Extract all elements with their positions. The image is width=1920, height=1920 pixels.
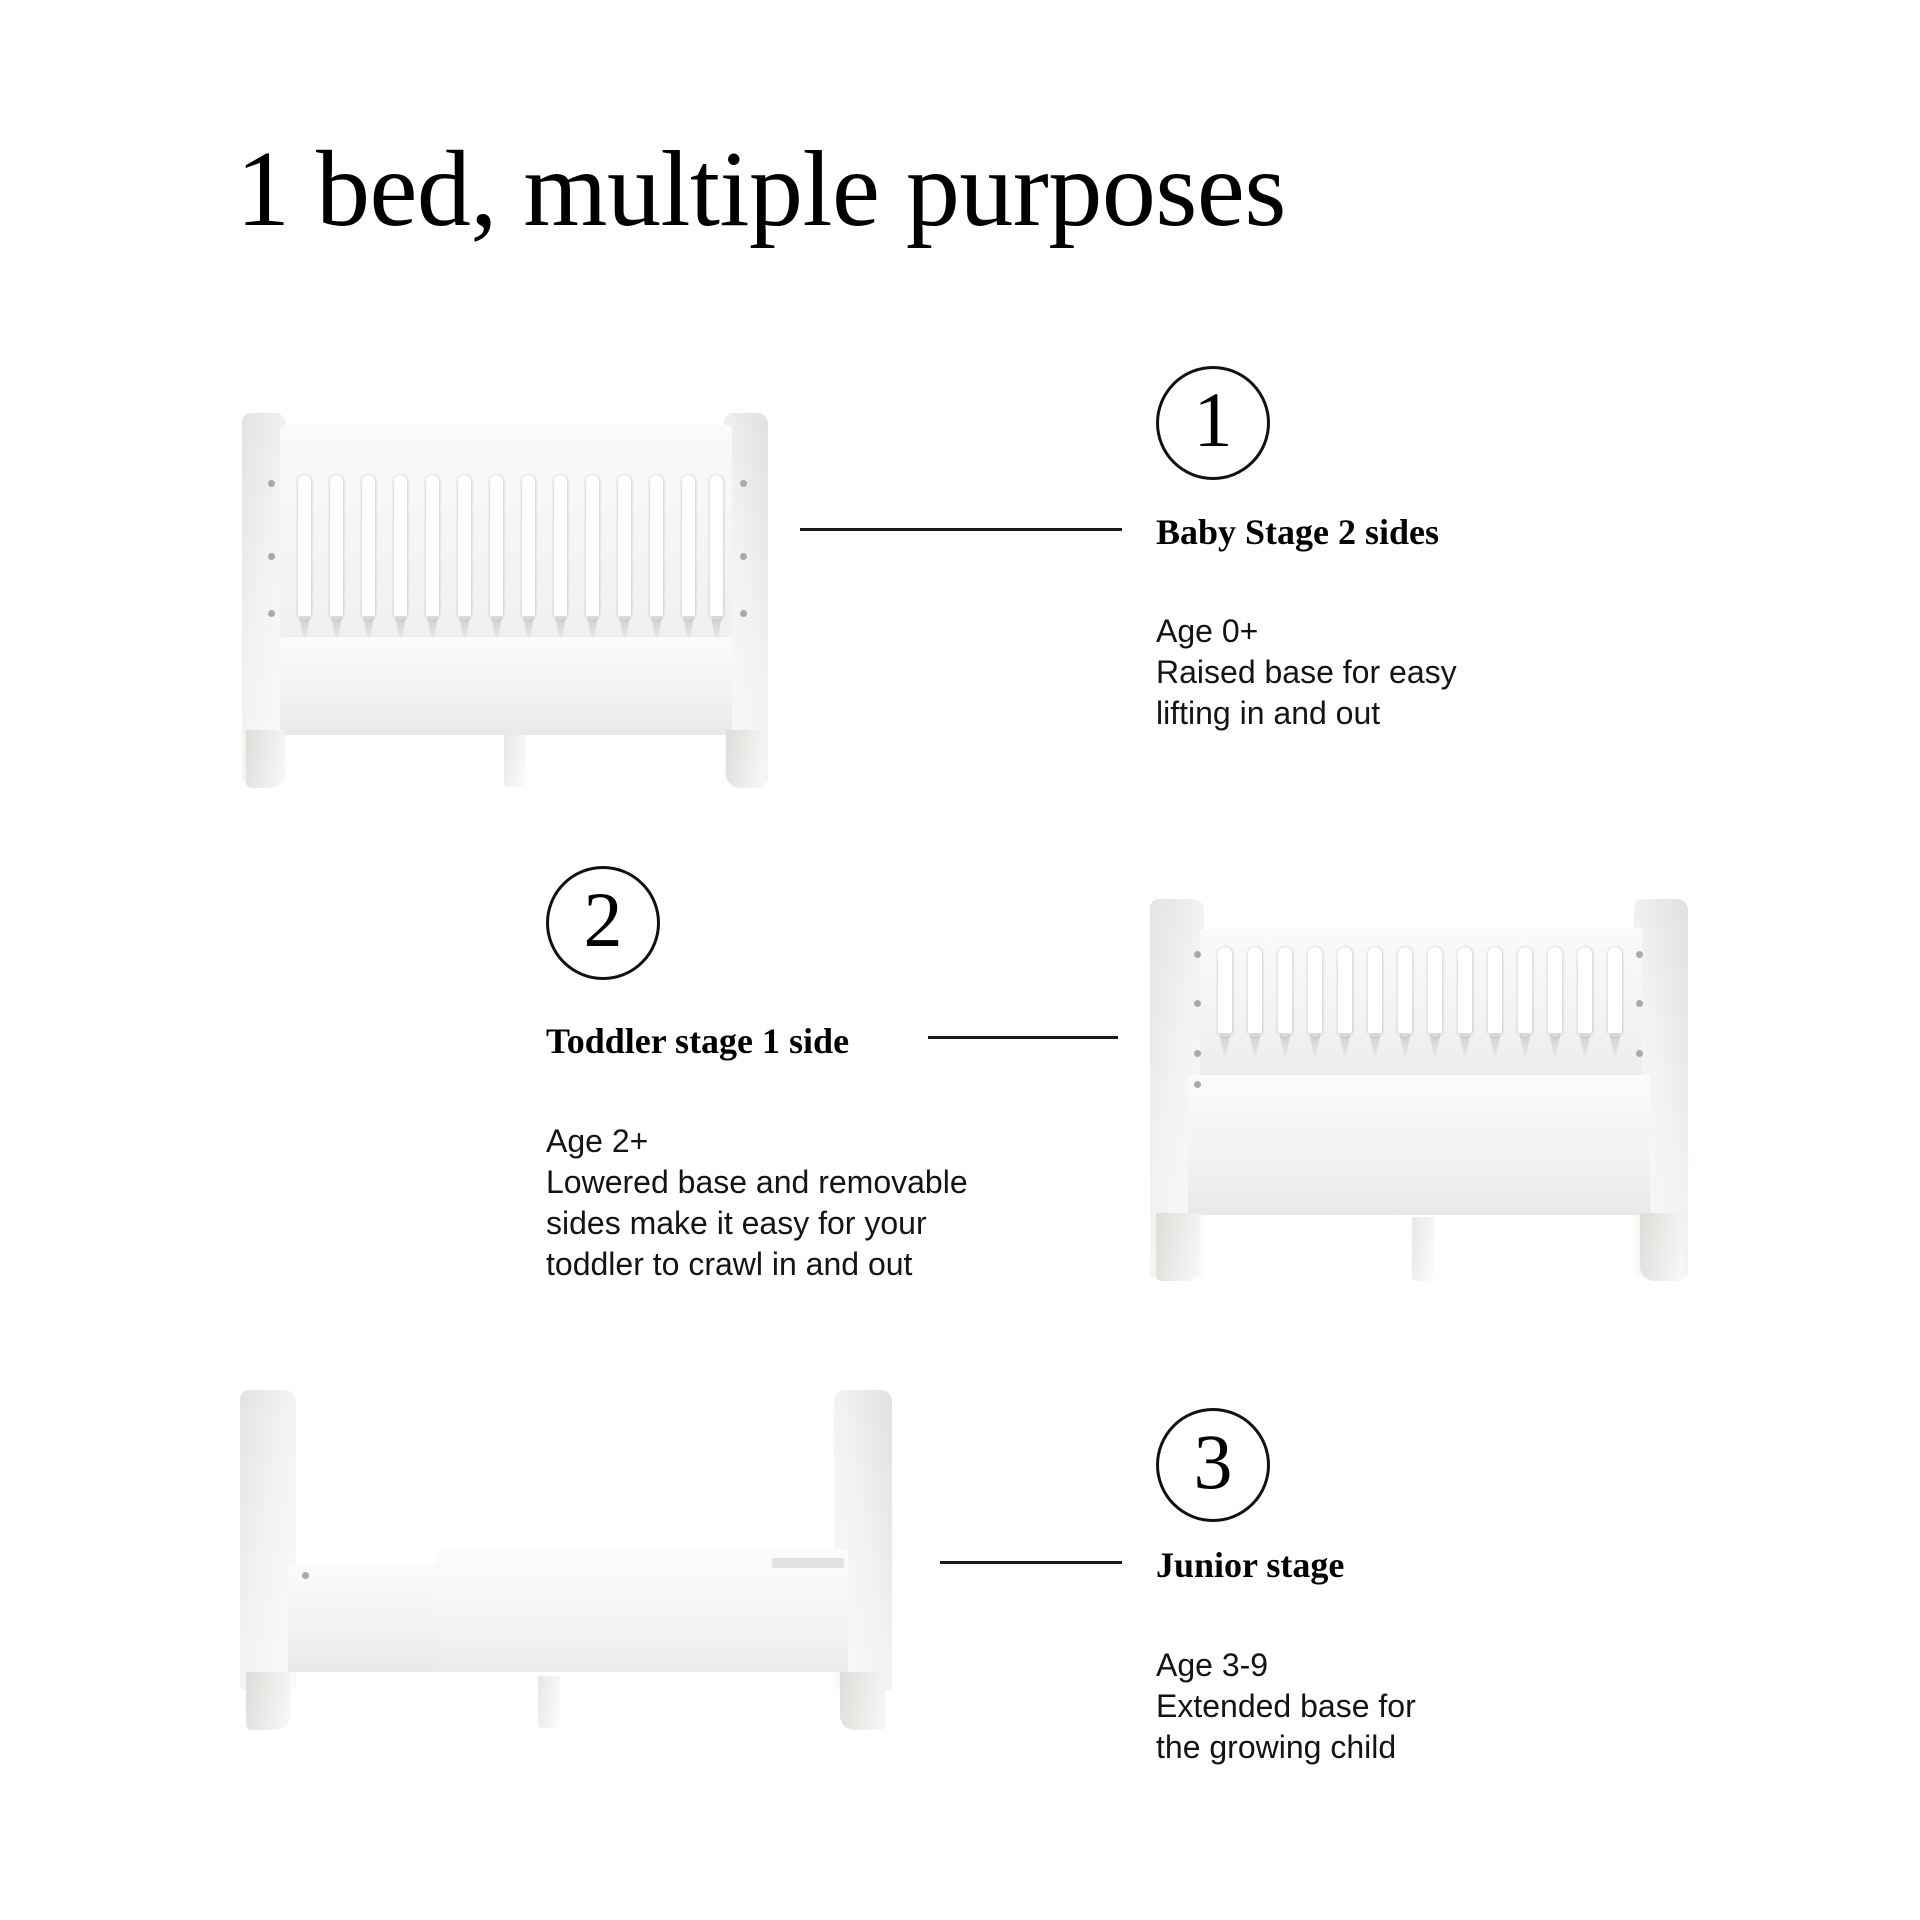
crib-slat bbox=[682, 475, 695, 620]
product-image-baby-crib bbox=[240, 405, 770, 790]
crib-screw bbox=[740, 553, 747, 560]
crib-slat bbox=[650, 475, 663, 620]
toddler-leg-right bbox=[1640, 1213, 1684, 1281]
crib-slat bbox=[298, 475, 311, 620]
stage-description-text: Raised base for easy lifting in and out bbox=[1156, 654, 1457, 731]
toddler-slat bbox=[1398, 947, 1412, 1037]
toddler-slat bbox=[1548, 947, 1562, 1037]
toddler-slat bbox=[1248, 947, 1262, 1037]
toddler-slat bbox=[1578, 947, 1592, 1037]
crib-screw bbox=[268, 553, 275, 560]
toddler-slat-rail bbox=[1200, 929, 1642, 1079]
crib-slat bbox=[554, 475, 567, 620]
crib-screw bbox=[268, 610, 275, 617]
crib-slat bbox=[458, 475, 471, 620]
stage-heading-3: Junior stage bbox=[1156, 1546, 1344, 1586]
toddler-slat bbox=[1368, 947, 1382, 1037]
crib-screw bbox=[740, 610, 747, 617]
stage-badge-1: 1 bbox=[1156, 366, 1270, 480]
junior-rail-slot bbox=[772, 1558, 844, 1568]
toddler-slat bbox=[1518, 947, 1532, 1037]
toddler-slat bbox=[1308, 947, 1322, 1037]
junior-leg-center bbox=[538, 1676, 560, 1728]
crib-slat bbox=[426, 475, 439, 620]
toddler-screw bbox=[1194, 951, 1201, 958]
junior-base-extension bbox=[288, 1564, 438, 1672]
crib-slat bbox=[490, 475, 503, 620]
toddler-screw bbox=[1636, 1050, 1643, 1057]
toddler-screw bbox=[1194, 1000, 1201, 1007]
toddler-screw bbox=[1194, 1050, 1201, 1057]
crib-base-panel bbox=[280, 637, 732, 735]
stage-heading-1: Baby Stage 2 sides bbox=[1156, 513, 1439, 553]
toddler-base-panel bbox=[1188, 1075, 1650, 1215]
crib-slat bbox=[362, 475, 375, 620]
stage-badge-number: 3 bbox=[1194, 1423, 1233, 1501]
toddler-slat bbox=[1608, 947, 1622, 1037]
connector-line-stage-1 bbox=[800, 528, 1122, 531]
stage-heading-text: Baby Stage 2 sides bbox=[1156, 512, 1439, 552]
crib-slat bbox=[522, 475, 535, 620]
toddler-screw bbox=[1636, 951, 1643, 958]
stage-description-1: Raised base for easy lifting in and out bbox=[1156, 611, 1457, 734]
toddler-slat bbox=[1338, 947, 1352, 1037]
stage-badge-number: 1 bbox=[1194, 381, 1233, 459]
crib-slat bbox=[330, 475, 343, 620]
stage-badge-number: 2 bbox=[584, 881, 623, 959]
stage-description-text: Extended base for the growing child bbox=[1156, 1688, 1416, 1765]
stage-description-3: Extended base for the growing child bbox=[1156, 1645, 1416, 1768]
stage-description-2: Lowered base and removable sides make it… bbox=[546, 1121, 968, 1285]
junior-screw bbox=[302, 1572, 309, 1579]
toddler-screw bbox=[1636, 1000, 1643, 1007]
crib-leg-center bbox=[504, 735, 526, 787]
crib-slat bbox=[618, 475, 631, 620]
stage-heading-text: Junior stage bbox=[1156, 1545, 1344, 1585]
toddler-leg-left bbox=[1156, 1213, 1200, 1281]
crib-slat bbox=[586, 475, 599, 620]
toddler-slat bbox=[1218, 947, 1232, 1037]
product-image-junior-bed bbox=[240, 1390, 910, 1730]
crib-leg-left bbox=[246, 730, 284, 788]
junior-side-rail bbox=[436, 1550, 848, 1672]
toddler-leg-center bbox=[1412, 1217, 1434, 1281]
toddler-slat bbox=[1458, 947, 1472, 1037]
stage-heading-text: Toddler stage 1 side bbox=[546, 1021, 849, 1061]
stage-badge-2: 2 bbox=[546, 866, 660, 980]
crib-leg-right bbox=[726, 730, 764, 788]
junior-leg-left bbox=[246, 1672, 290, 1730]
crib-slat bbox=[394, 475, 407, 620]
crib-screw bbox=[268, 480, 275, 487]
connector-line-stage-3 bbox=[940, 1561, 1122, 1564]
page-title: 1 bed, multiple purposes bbox=[236, 132, 1796, 249]
crib-slat bbox=[710, 475, 723, 620]
product-image-toddler-bed bbox=[1150, 895, 1690, 1295]
toddler-screw bbox=[1194, 1081, 1201, 1088]
toddler-slat bbox=[1488, 947, 1502, 1037]
junior-leg-right bbox=[840, 1672, 886, 1730]
stage-description-text: Lowered base and removable sides make it… bbox=[546, 1164, 968, 1282]
stage-badge-3: 3 bbox=[1156, 1408, 1270, 1522]
crib-screw bbox=[740, 480, 747, 487]
toddler-slat bbox=[1278, 947, 1292, 1037]
infographic-page: 1 bed, multiple purposes bbox=[0, 0, 1920, 1920]
stage-heading-2: Toddler stage 1 side bbox=[546, 1022, 849, 1062]
toddler-slat bbox=[1428, 947, 1442, 1037]
connector-line-stage-2 bbox=[928, 1036, 1118, 1039]
